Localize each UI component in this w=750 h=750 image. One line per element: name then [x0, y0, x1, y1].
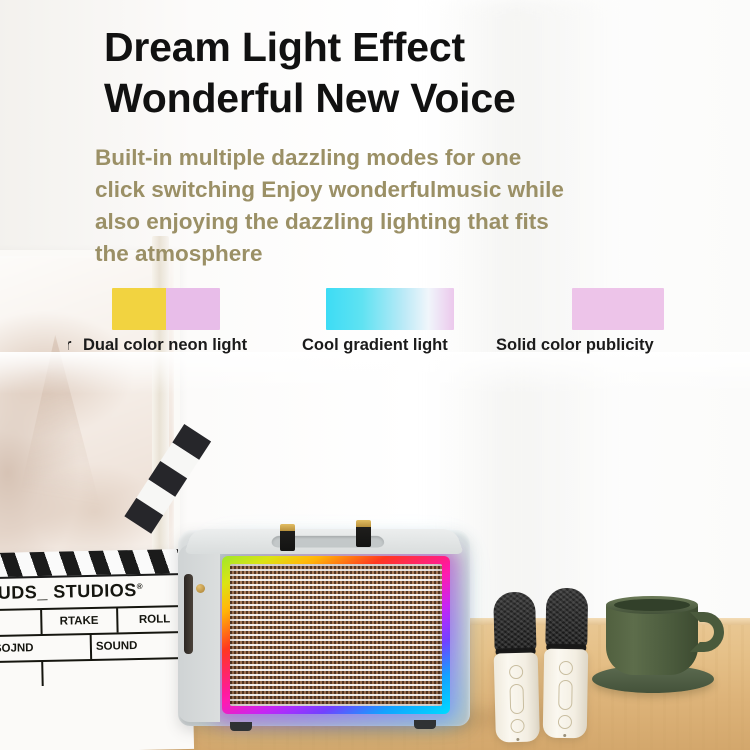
clapperboard-title: STLSTUDS_ STUDIOS® — [0, 579, 191, 606]
clapperboard-row — [0, 657, 193, 689]
wireless-microphone-2 — [543, 588, 590, 739]
swatch-dual-color-neon — [112, 288, 220, 330]
clapperboard-cell — [0, 610, 43, 636]
clapperboard-title-text: STLSTUDS_ STUDIOS — [0, 580, 137, 604]
headline-block: Dream Light Effect Wonderful New Voice B… — [0, 0, 750, 285]
speaker-top-panel — [184, 529, 464, 554]
clapperboard-cell: SOJND — [0, 635, 92, 661]
microphone-button-bottom[interactable] — [558, 715, 572, 729]
speaker-strap — [184, 574, 193, 654]
microphone-button-middle[interactable] — [558, 680, 573, 710]
swatch-label-dual-color-neon: Dual color neon light — [83, 336, 247, 355]
light-mode-dual-color-neon[interactable]: Dual color neon light — [112, 288, 247, 355]
page-title: Dream Light Effect Wonderful New Voice — [104, 22, 704, 125]
microphone-button-middle[interactable] — [509, 684, 524, 714]
microphone-led-indicator — [516, 738, 519, 741]
description-line-1: Built-in multiple dazzling modes for one — [95, 142, 665, 174]
light-mode-solid-color[interactable]: Solid color publicity — [572, 288, 664, 355]
microphone-head — [545, 588, 588, 649]
clipped-label-prefix: r — [68, 336, 79, 358]
description-line-2: click switching Enjoy wonderfulmusic whi… — [95, 174, 665, 206]
swatch-solid-color — [572, 288, 664, 330]
clapperboard-cell — [0, 662, 44, 689]
clapperboard-stripes — [0, 549, 190, 581]
swatch-label-solid-color: Solid color publicity — [496, 336, 664, 355]
speaker-strap-stud — [196, 584, 205, 593]
rgb-speaker — [178, 522, 470, 728]
light-mode-cool-gradient[interactable]: Cool gradient light — [326, 288, 454, 355]
registered-mark: ® — [137, 582, 144, 591]
description-line-4: the atmosphere — [95, 238, 665, 270]
clapperboard-cell — [43, 659, 192, 686]
microphone-button-bottom[interactable] — [510, 719, 524, 733]
microphone-led-indicator — [563, 734, 566, 737]
speaker-grille — [230, 564, 442, 706]
microphone-button-top[interactable] — [509, 665, 523, 679]
product-feature-banner: STLSTUDS_ STUDIOS® KE RTAKE ROLL SOJND S… — [0, 0, 750, 750]
microphone-body — [494, 652, 540, 742]
page-description: Built-in multiple dazzling modes for one… — [95, 142, 665, 270]
cup-interior — [614, 599, 690, 611]
headline-line-2: Wonderful New Voice — [104, 73, 704, 124]
headline-line-1: Dream Light Effect — [104, 24, 465, 70]
swatch-cool-gradient — [326, 288, 454, 330]
clapperboard: STLSTUDS_ STUDIOS® KE RTAKE ROLL SOJND S… — [0, 549, 194, 750]
swatch-label-cool-gradient: Cool gradient light — [302, 336, 454, 355]
speaker-knob-volume[interactable] — [280, 529, 295, 551]
clapperboard-grid: KE RTAKE ROLL SOJND SOUND — [0, 605, 193, 689]
speaker-knob-mode[interactable] — [356, 525, 371, 547]
description-line-3: also enjoying the dazzling lighting that… — [95, 206, 665, 238]
speaker-foot — [414, 720, 436, 729]
clipped-prefix-glyph: r — [68, 336, 71, 354]
clapperboard-cell: RTAKE — [42, 608, 118, 634]
microphone-head — [493, 591, 537, 652]
light-mode-swatch-row: r Dual color neon light Cool gradient li… — [0, 288, 750, 368]
wireless-microphone-1 — [492, 591, 540, 742]
microphone-body — [543, 649, 589, 739]
microphone-button-top[interactable] — [559, 661, 573, 675]
speaker-foot — [230, 722, 252, 731]
